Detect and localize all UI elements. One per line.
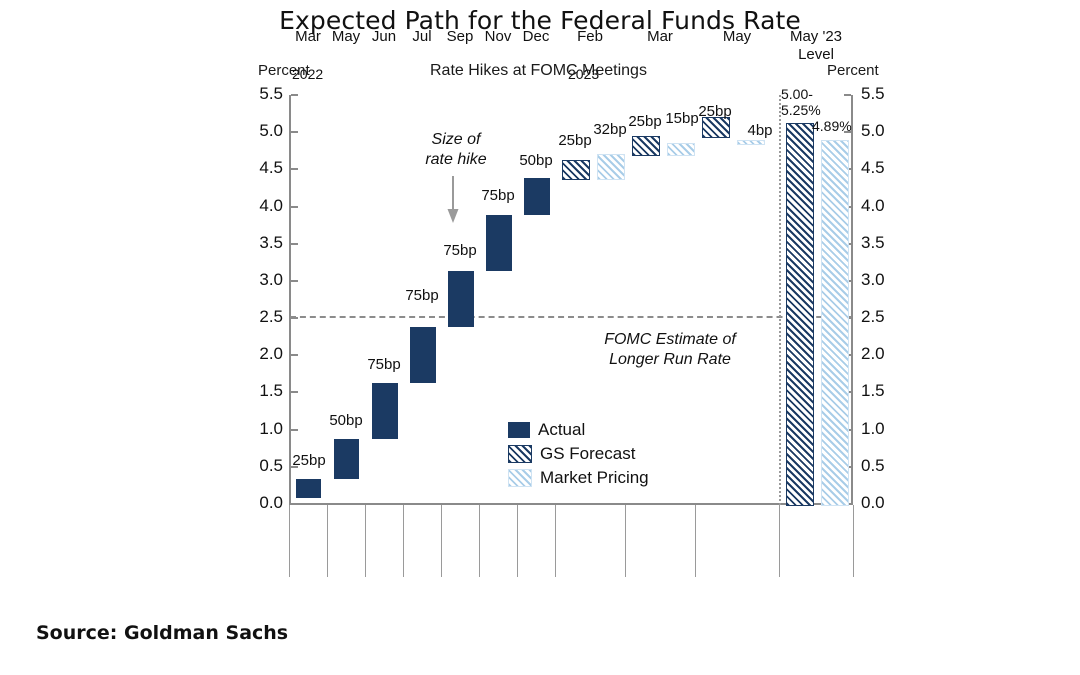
- bar-feb-2023-market: [597, 154, 625, 180]
- y-tick-right-5.5: [844, 94, 851, 96]
- legend: Actual GS Forecast Market Pricing: [508, 418, 649, 490]
- y-tick-label-left-0.5: 0.5: [237, 456, 283, 476]
- y-tick-label-right-1.5: 1.5: [861, 381, 907, 401]
- bar-level-market: [821, 140, 849, 506]
- bar-jun-2022-actual: [372, 383, 398, 439]
- legend-label-actual: Actual: [538, 420, 585, 440]
- y-tick-label-left-2.5: 2.5: [237, 307, 283, 327]
- cat-may-2023: May: [695, 28, 779, 46]
- source-note: Source: Goldman Sachs: [36, 622, 288, 644]
- category-divider: [517, 505, 518, 577]
- y-axis-left: [289, 95, 291, 505]
- y-tick-left-3.0: [291, 280, 298, 282]
- year-label-2023: 2023: [568, 66, 599, 82]
- bar-may-2023-gs: [702, 117, 730, 138]
- y-tick-label-left-1.0: 1.0: [237, 419, 283, 439]
- y-tick-left-2.0: [291, 354, 298, 356]
- category-axis-band: [289, 505, 853, 577]
- cat-mar-2022: Mar: [289, 28, 327, 46]
- bar-may-2023-gs-hike-label: 25bp: [690, 103, 740, 120]
- y-tick-left-5.5: [291, 94, 298, 96]
- y-tick-label-left-3.0: 3.0: [237, 270, 283, 290]
- bar-may-2023-market-hike-label: 4bp: [735, 122, 785, 139]
- category-divider: [403, 505, 404, 577]
- y-tick-label-right-1.0: 1.0: [861, 419, 907, 439]
- legend-item-actual: Actual: [508, 418, 649, 442]
- y-tick-label-left-4.5: 4.5: [237, 158, 283, 178]
- longer-run-line2: Longer Run Rate: [609, 351, 731, 368]
- longer-run-line1: FOMC Estimate of: [604, 331, 736, 348]
- cat-dec-2022: Dec: [517, 28, 555, 46]
- category-divider: [555, 505, 556, 577]
- bar-jul-2022-actual: [410, 327, 436, 383]
- y-tick-label-left-2.0: 2.0: [237, 344, 283, 364]
- y-tick-left-4.0: [291, 206, 298, 208]
- category-divider: [365, 505, 366, 577]
- y-tick-label-right-3.5: 3.5: [861, 233, 907, 253]
- category-divider: [289, 505, 290, 577]
- bar-jul-2022-actual-hike-label: 75bp: [398, 287, 446, 304]
- bar-mar-2022-actual: [296, 479, 321, 498]
- y-tick-left-5.0: [291, 131, 298, 133]
- y-tick-left-1.0: [291, 429, 298, 431]
- bar-mar-2022-actual-hike-label: 25bp: [285, 452, 333, 469]
- cat-nov-2022: Nov: [479, 28, 517, 46]
- y-tick-label-right-2.0: 2.0: [861, 344, 907, 364]
- bar-mar-2023-market: [667, 143, 695, 156]
- bar-nov-2022-actual-hike-label: 75bp: [474, 187, 522, 204]
- level-label-market: 4.89%: [812, 118, 852, 134]
- legend-item-market-pricing: Market Pricing: [508, 466, 649, 490]
- bar-may-2023-market: [737, 140, 765, 145]
- bar-may-2022-actual-hike-label: 50bp: [322, 412, 370, 429]
- y-tick-left-3.5: [291, 243, 298, 245]
- y-tick-label-right-2.5: 2.5: [861, 307, 907, 327]
- level-label-gs: 5.00- 5.25%: [781, 86, 821, 118]
- size-of-rate-hike-line2: rate hike: [425, 151, 486, 168]
- chart-container: Expected Path for the Federal Funds Rate…: [0, 0, 1080, 675]
- bar-sep-2022-actual: [448, 271, 474, 327]
- legend-swatch-market-pricing-icon: [508, 469, 532, 487]
- y-tick-left-4.5: [291, 168, 298, 170]
- year-label-2022: 2022: [292, 66, 323, 82]
- cat-mar-2023: Mar: [625, 28, 695, 46]
- category-divider: [625, 505, 626, 577]
- y-tick-label-left-3.5: 3.5: [237, 233, 283, 253]
- longer-run-rate-annotation: FOMC Estimate of Longer Run Rate: [560, 330, 780, 370]
- longer-run-rate-reference-line: [290, 316, 852, 318]
- bar-feb-2023-gs: [562, 160, 590, 181]
- y-tick-label-right-4.5: 4.5: [861, 158, 907, 178]
- bar-level-gs: [786, 123, 814, 506]
- legend-label-market-pricing: Market Pricing: [540, 468, 649, 488]
- bar-dec-2022-actual: [524, 178, 550, 215]
- cat-may-2022: May: [327, 28, 365, 46]
- cat-sep-2022: Sep: [441, 28, 479, 46]
- bar-sep-2022-actual-hike-label: 75bp: [436, 242, 484, 259]
- y-tick-label-left-5.0: 5.0: [237, 121, 283, 141]
- cat-jun-2022: Jun: [365, 28, 403, 46]
- y-tick-label-right-0.5: 0.5: [861, 456, 907, 476]
- size-of-rate-hike-annotation: Size of rate hike: [392, 130, 520, 170]
- y-tick-label-right-5.5: 5.5: [861, 84, 907, 104]
- plot-subtitle: Rate Hikes at FOMC Meetings: [430, 62, 647, 80]
- legend-swatch-actual-icon: [508, 422, 530, 438]
- bar-nov-2022-actual: [486, 215, 512, 271]
- y-tick-left-1.5: [291, 391, 298, 393]
- category-divider: [695, 505, 696, 577]
- bar-mar-2023-gs: [632, 136, 660, 157]
- category-divider: [327, 505, 328, 577]
- bar-may-2022-actual: [334, 439, 359, 480]
- category-divider: [441, 505, 442, 577]
- y-tick-label-right-5.0: 5.0: [861, 121, 907, 141]
- bar-dec-2022-actual-hike-label: 50bp: [512, 152, 560, 169]
- y-tick-label-right-3.0: 3.0: [861, 270, 907, 290]
- legend-swatch-gs-forecast-icon: [508, 445, 532, 463]
- cat-jul-2022: Jul: [403, 28, 441, 46]
- bar-jun-2022-actual-hike-label: 75bp: [360, 356, 408, 373]
- category-divider: [853, 505, 854, 577]
- level-section-separator: [779, 95, 781, 505]
- size-of-rate-hike-line1: Size of: [432, 131, 481, 148]
- y-axis-right: [851, 95, 853, 505]
- cat-feb-2023: Feb: [555, 28, 625, 46]
- y-tick-label-right-0.0: 0.0: [861, 493, 907, 513]
- y-tick-label-right-4.0: 4.0: [861, 196, 907, 216]
- y-tick-label-left-0.0: 0.0: [237, 493, 283, 513]
- cat-may23-level: May '23 Level: [779, 28, 853, 64]
- y-tick-label-left-1.5: 1.5: [237, 381, 283, 401]
- y-tick-label-left-4.0: 4.0: [237, 196, 283, 216]
- category-divider: [779, 505, 780, 577]
- y-tick-label-left-5.5: 5.5: [237, 84, 283, 104]
- down-arrow-icon: [446, 176, 460, 224]
- category-divider: [479, 505, 480, 577]
- legend-item-gs-forecast: GS Forecast: [508, 442, 649, 466]
- right-axis-unit-label: Percent: [827, 62, 879, 79]
- legend-label-gs-forecast: GS Forecast: [540, 444, 635, 464]
